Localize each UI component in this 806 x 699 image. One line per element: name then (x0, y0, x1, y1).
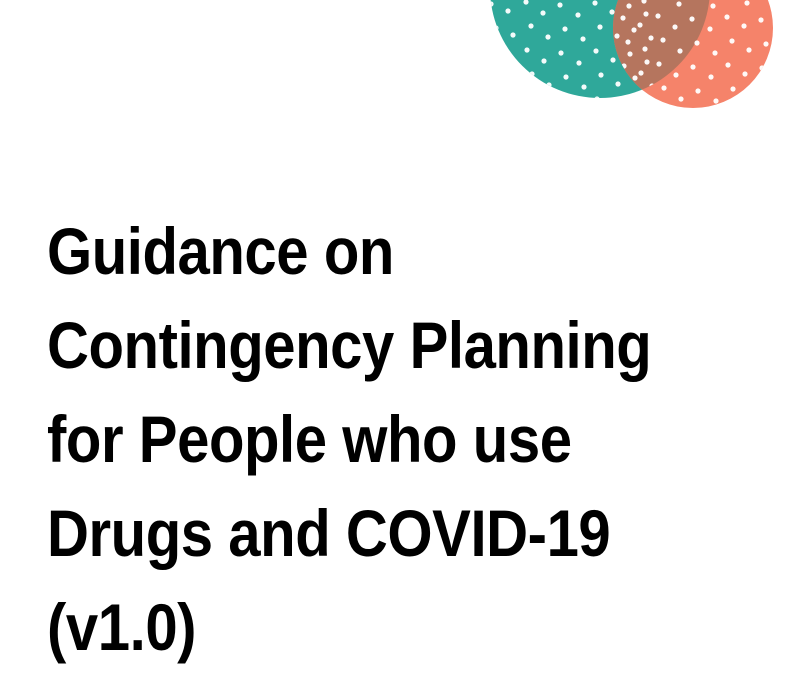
cover-page: Guidance on Contingency Planning for Peo… (0, 0, 806, 699)
title-line-3: for People who use (47, 392, 663, 486)
title-line-5: (v1.0) (47, 580, 663, 674)
title-line-2: Contingency Planning (47, 298, 663, 392)
title-line-1: Guidance on (47, 204, 663, 298)
coral-dot-pattern (620, 0, 786, 128)
teal-circle (490, 0, 710, 98)
circle-overlap-region (613, 0, 773, 108)
page-title: Guidance on Contingency Planning for Peo… (47, 204, 747, 674)
teal-dot-pattern (488, 0, 654, 114)
overlapping-circles-logo (430, 0, 806, 190)
title-line-4: Drugs and COVID-19 (47, 486, 663, 580)
coral-circle (613, 0, 773, 108)
